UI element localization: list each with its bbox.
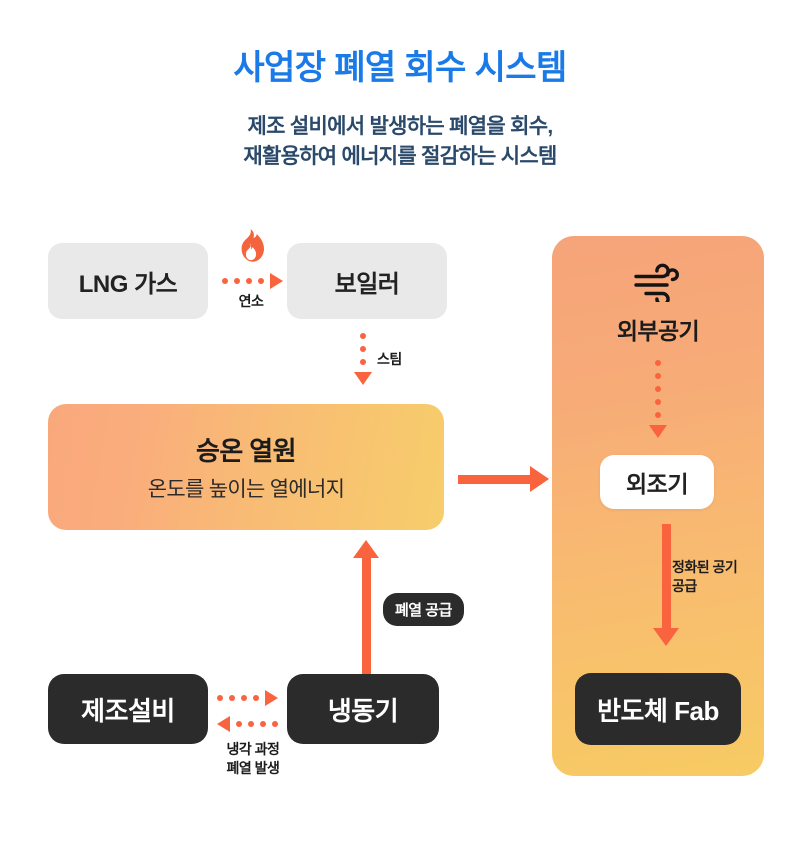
arrow-boiler-to-heat-source bbox=[354, 333, 372, 385]
arrow-equipment-to-chiller bbox=[217, 690, 278, 706]
badge-waste-heat-supply: 폐열 공급 bbox=[383, 593, 464, 626]
arrow-head-right bbox=[265, 690, 278, 706]
arrow-dot bbox=[655, 412, 661, 418]
label-cooling-process: 냉각 과정 폐열 발생 bbox=[203, 740, 303, 778]
arrow-heat-source-to-panel bbox=[458, 466, 549, 492]
arrow-head-down bbox=[354, 372, 372, 385]
arrow-dot bbox=[246, 278, 252, 284]
label-combustion: 연소 bbox=[222, 292, 280, 311]
node-heat-source-subtitle: 온도를 높이는 열에너지 bbox=[148, 473, 344, 503]
arrow-shaft bbox=[362, 558, 371, 674]
arrow-shaft bbox=[662, 524, 671, 628]
arrow-head-right bbox=[270, 273, 283, 289]
node-ahu-label: 외조기 bbox=[626, 465, 688, 499]
node-semiconductor-fab-label: 반도체 Fab bbox=[597, 691, 719, 728]
arrow-dot bbox=[236, 721, 242, 727]
arrow-dot bbox=[272, 721, 278, 727]
arrow-head-down bbox=[653, 628, 679, 646]
node-lng-gas-label: LNG 가스 bbox=[79, 264, 178, 299]
node-outside-air-label: 외부공기 bbox=[552, 312, 764, 346]
arrow-head-down bbox=[649, 425, 667, 438]
arrow-lng-to-boiler bbox=[222, 273, 283, 289]
arrow-dot bbox=[260, 721, 266, 727]
node-semiconductor-fab[interactable]: 반도체 Fab bbox=[575, 673, 741, 745]
label-purified-air: 정화된 공기 공급 bbox=[672, 558, 758, 596]
arrow-dot bbox=[360, 346, 366, 352]
arrow-dot bbox=[655, 399, 661, 405]
arrow-dot bbox=[229, 695, 235, 701]
arrow-dot bbox=[241, 695, 247, 701]
arrow-dot bbox=[217, 695, 223, 701]
node-boiler-label: 보일러 bbox=[335, 264, 400, 299]
arrow-shaft bbox=[458, 475, 530, 484]
node-chiller-label: 냉동기 bbox=[328, 691, 398, 728]
wind-icon bbox=[633, 262, 685, 302]
node-boiler[interactable]: 보일러 bbox=[287, 243, 447, 319]
arrow-dot bbox=[222, 278, 228, 284]
arrow-dot bbox=[655, 360, 661, 366]
page-subtitle: 제조 설비에서 발생하는 폐열을 회수, 재활용하여 에너지를 절감하는 시스템 bbox=[0, 112, 800, 173]
node-chiller[interactable]: 냉동기 bbox=[287, 674, 439, 744]
label-steam: 스팀 bbox=[377, 350, 402, 369]
arrow-dot bbox=[258, 278, 264, 284]
arrow-dot bbox=[655, 373, 661, 379]
node-lng-gas[interactable]: LNG 가스 bbox=[48, 243, 208, 319]
arrow-dot bbox=[253, 695, 259, 701]
node-heat-source-title: 승온 열원 bbox=[196, 431, 296, 468]
arrow-dot bbox=[248, 721, 254, 727]
node-manufacturing-equipment-label: 제조설비 bbox=[81, 691, 175, 728]
arrow-head-left bbox=[217, 716, 230, 732]
infographic-canvas: 사업장 폐열 회수 시스템 제조 설비에서 발생하는 폐열을 회수, 재활용하여… bbox=[0, 0, 800, 845]
node-ahu[interactable]: 외조기 bbox=[600, 455, 714, 509]
arrow-dot bbox=[234, 278, 240, 284]
arrow-chiller-to-heat-source bbox=[353, 540, 379, 674]
arrow-head-right bbox=[530, 466, 549, 492]
node-manufacturing-equipment[interactable]: 제조설비 bbox=[48, 674, 208, 744]
arrow-dot bbox=[360, 333, 366, 339]
arrow-head-up bbox=[353, 540, 379, 558]
arrow-dot bbox=[655, 386, 661, 392]
arrow-dot bbox=[360, 359, 366, 365]
flame-icon bbox=[233, 228, 267, 264]
node-heat-source[interactable]: 승온 열원 온도를 높이는 열에너지 bbox=[48, 404, 444, 530]
page-title: 사업장 폐열 회수 시스템 bbox=[0, 48, 800, 89]
arrow-outside-air-to-ahu bbox=[649, 360, 667, 438]
arrow-chiller-to-equipment bbox=[217, 716, 278, 732]
